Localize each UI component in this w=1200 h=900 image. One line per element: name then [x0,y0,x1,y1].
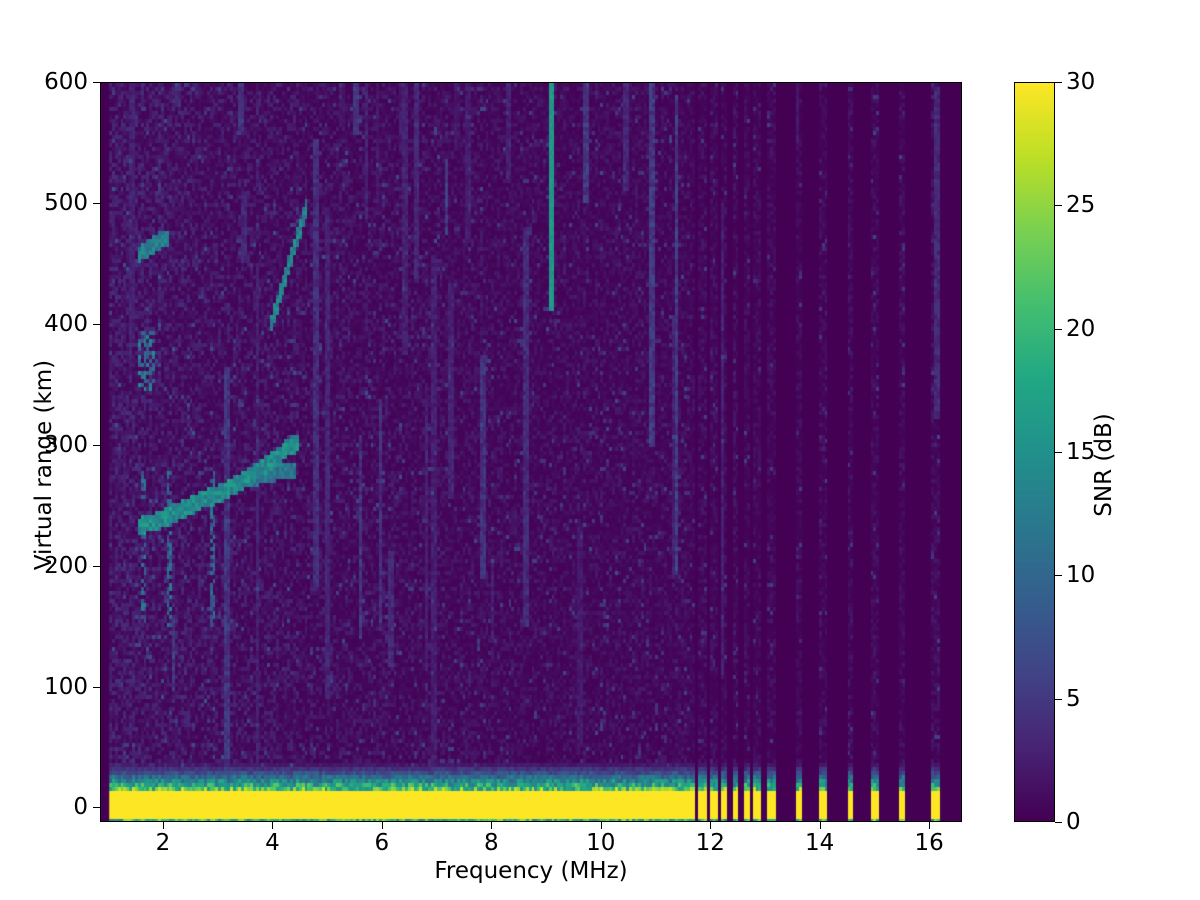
ionogram-heatmap-canvas[interactable] [101,83,962,822]
y-axis-label: Virtual range (km) [31,165,57,765]
colorbar-tick-label: 0 [1066,809,1081,835]
colorbar-label: SNR (dB) [1091,165,1117,765]
colorbar-tick-mark [1055,699,1062,700]
x-tick-label: 14 [805,830,834,856]
x-tick-label: 12 [696,830,725,856]
colorbar-tick-label: 30 [1066,69,1095,95]
x-tick-label: 10 [586,830,615,856]
colorbar-tick-mark [1055,575,1062,576]
colorbar[interactable] [1014,82,1055,822]
x-tick-mark [710,822,711,829]
x-tick-label: 8 [484,830,499,856]
colorbar-tick-mark [1055,329,1062,330]
y-tick-mark [93,807,100,808]
x-tick-mark [601,822,602,829]
x-axis-label: Frequency (MHz) [100,858,962,884]
ionogram-plot-area[interactable] [100,82,962,822]
y-tick-mark [93,566,100,567]
x-tick-mark [163,822,164,829]
ionogram-figure: IRF Uppsala SDR Ionosonde UP158 2025-10-… [0,0,1200,900]
x-tick-label: 6 [375,830,390,856]
colorbar-tick-mark [1055,822,1062,823]
x-tick-mark [382,822,383,829]
y-tick-mark [93,324,100,325]
x-tick-mark [929,822,930,829]
colorbar-tick-mark [1055,452,1062,453]
x-tick-label: 2 [156,830,171,856]
colorbar-gradient [1015,83,1054,821]
x-tick-label: 16 [915,830,944,856]
colorbar-tick-label: 5 [1066,686,1081,712]
y-tick-mark [93,445,100,446]
y-tick-mark [93,687,100,688]
x-tick-mark [491,822,492,829]
x-tick-label: 4 [265,830,280,856]
x-tick-mark [272,822,273,829]
y-tick-label: 0 [73,794,88,820]
x-tick-mark [820,822,821,829]
